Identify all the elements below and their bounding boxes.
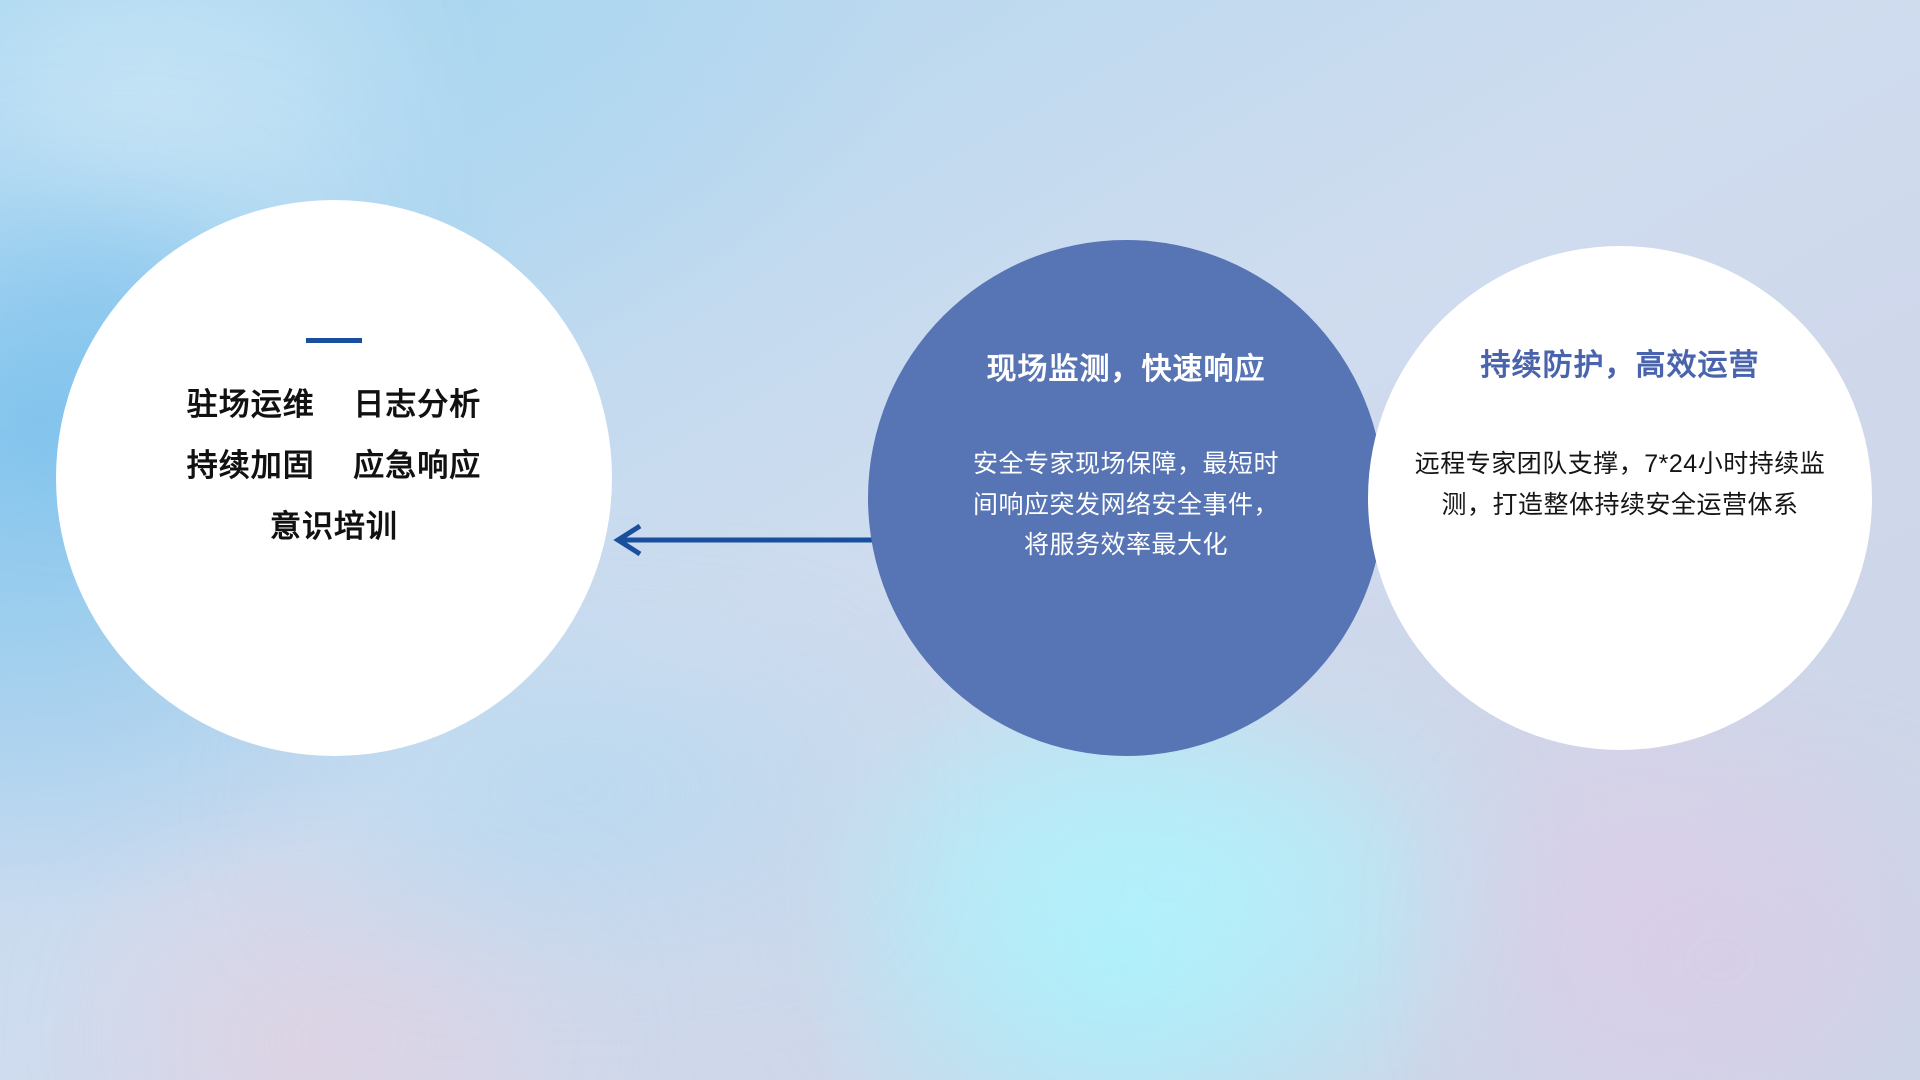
continuous-protection-body: 远程专家团队支撑，7*24小时持续监测，打造整体持续安全运营体系 (1414, 444, 1826, 525)
left-keyword-line-1: 驻场运维 日志分析 (187, 389, 481, 420)
onsite-monitoring-title: 现场监测，快速响应 (987, 344, 1266, 388)
flow-arrow-icon (600, 510, 900, 570)
background-glow-lavender-bottom-right (1480, 780, 1920, 1080)
left-keyword-line-3: 意识培训 (270, 511, 398, 542)
slide-canvas: 驻场运维 日志分析 持续加固 应急响应 意识培训 现场监测，快速响应 安全专家现… (0, 0, 1920, 1080)
continuous-protection-title: 持续防护，高效运营 (1481, 340, 1760, 384)
background-glow-cyan-bottom (860, 720, 1480, 1050)
onsite-monitoring-body: 安全专家现场保障，最短时间响应突发网络安全事件，将服务效率最大化 (961, 444, 1291, 566)
onsite-monitoring-circle[interactable]: 现场监测，快速响应 安全专家现场保障，最短时间响应突发网络安全事件，将服务效率最… (868, 240, 1384, 756)
title-divider-icon (306, 338, 362, 343)
left-summary-circle[interactable]: 驻场运维 日志分析 持续加固 应急响应 意识培训 (56, 200, 612, 756)
continuous-protection-circle[interactable]: 持续防护，高效运营 远程专家团队支撑，7*24小时持续监测，打造整体持续安全运营… (1368, 246, 1872, 750)
left-keyword-line-2: 持续加固 应急响应 (187, 450, 481, 481)
background-glow-pink-bottom-left (120, 900, 580, 1080)
